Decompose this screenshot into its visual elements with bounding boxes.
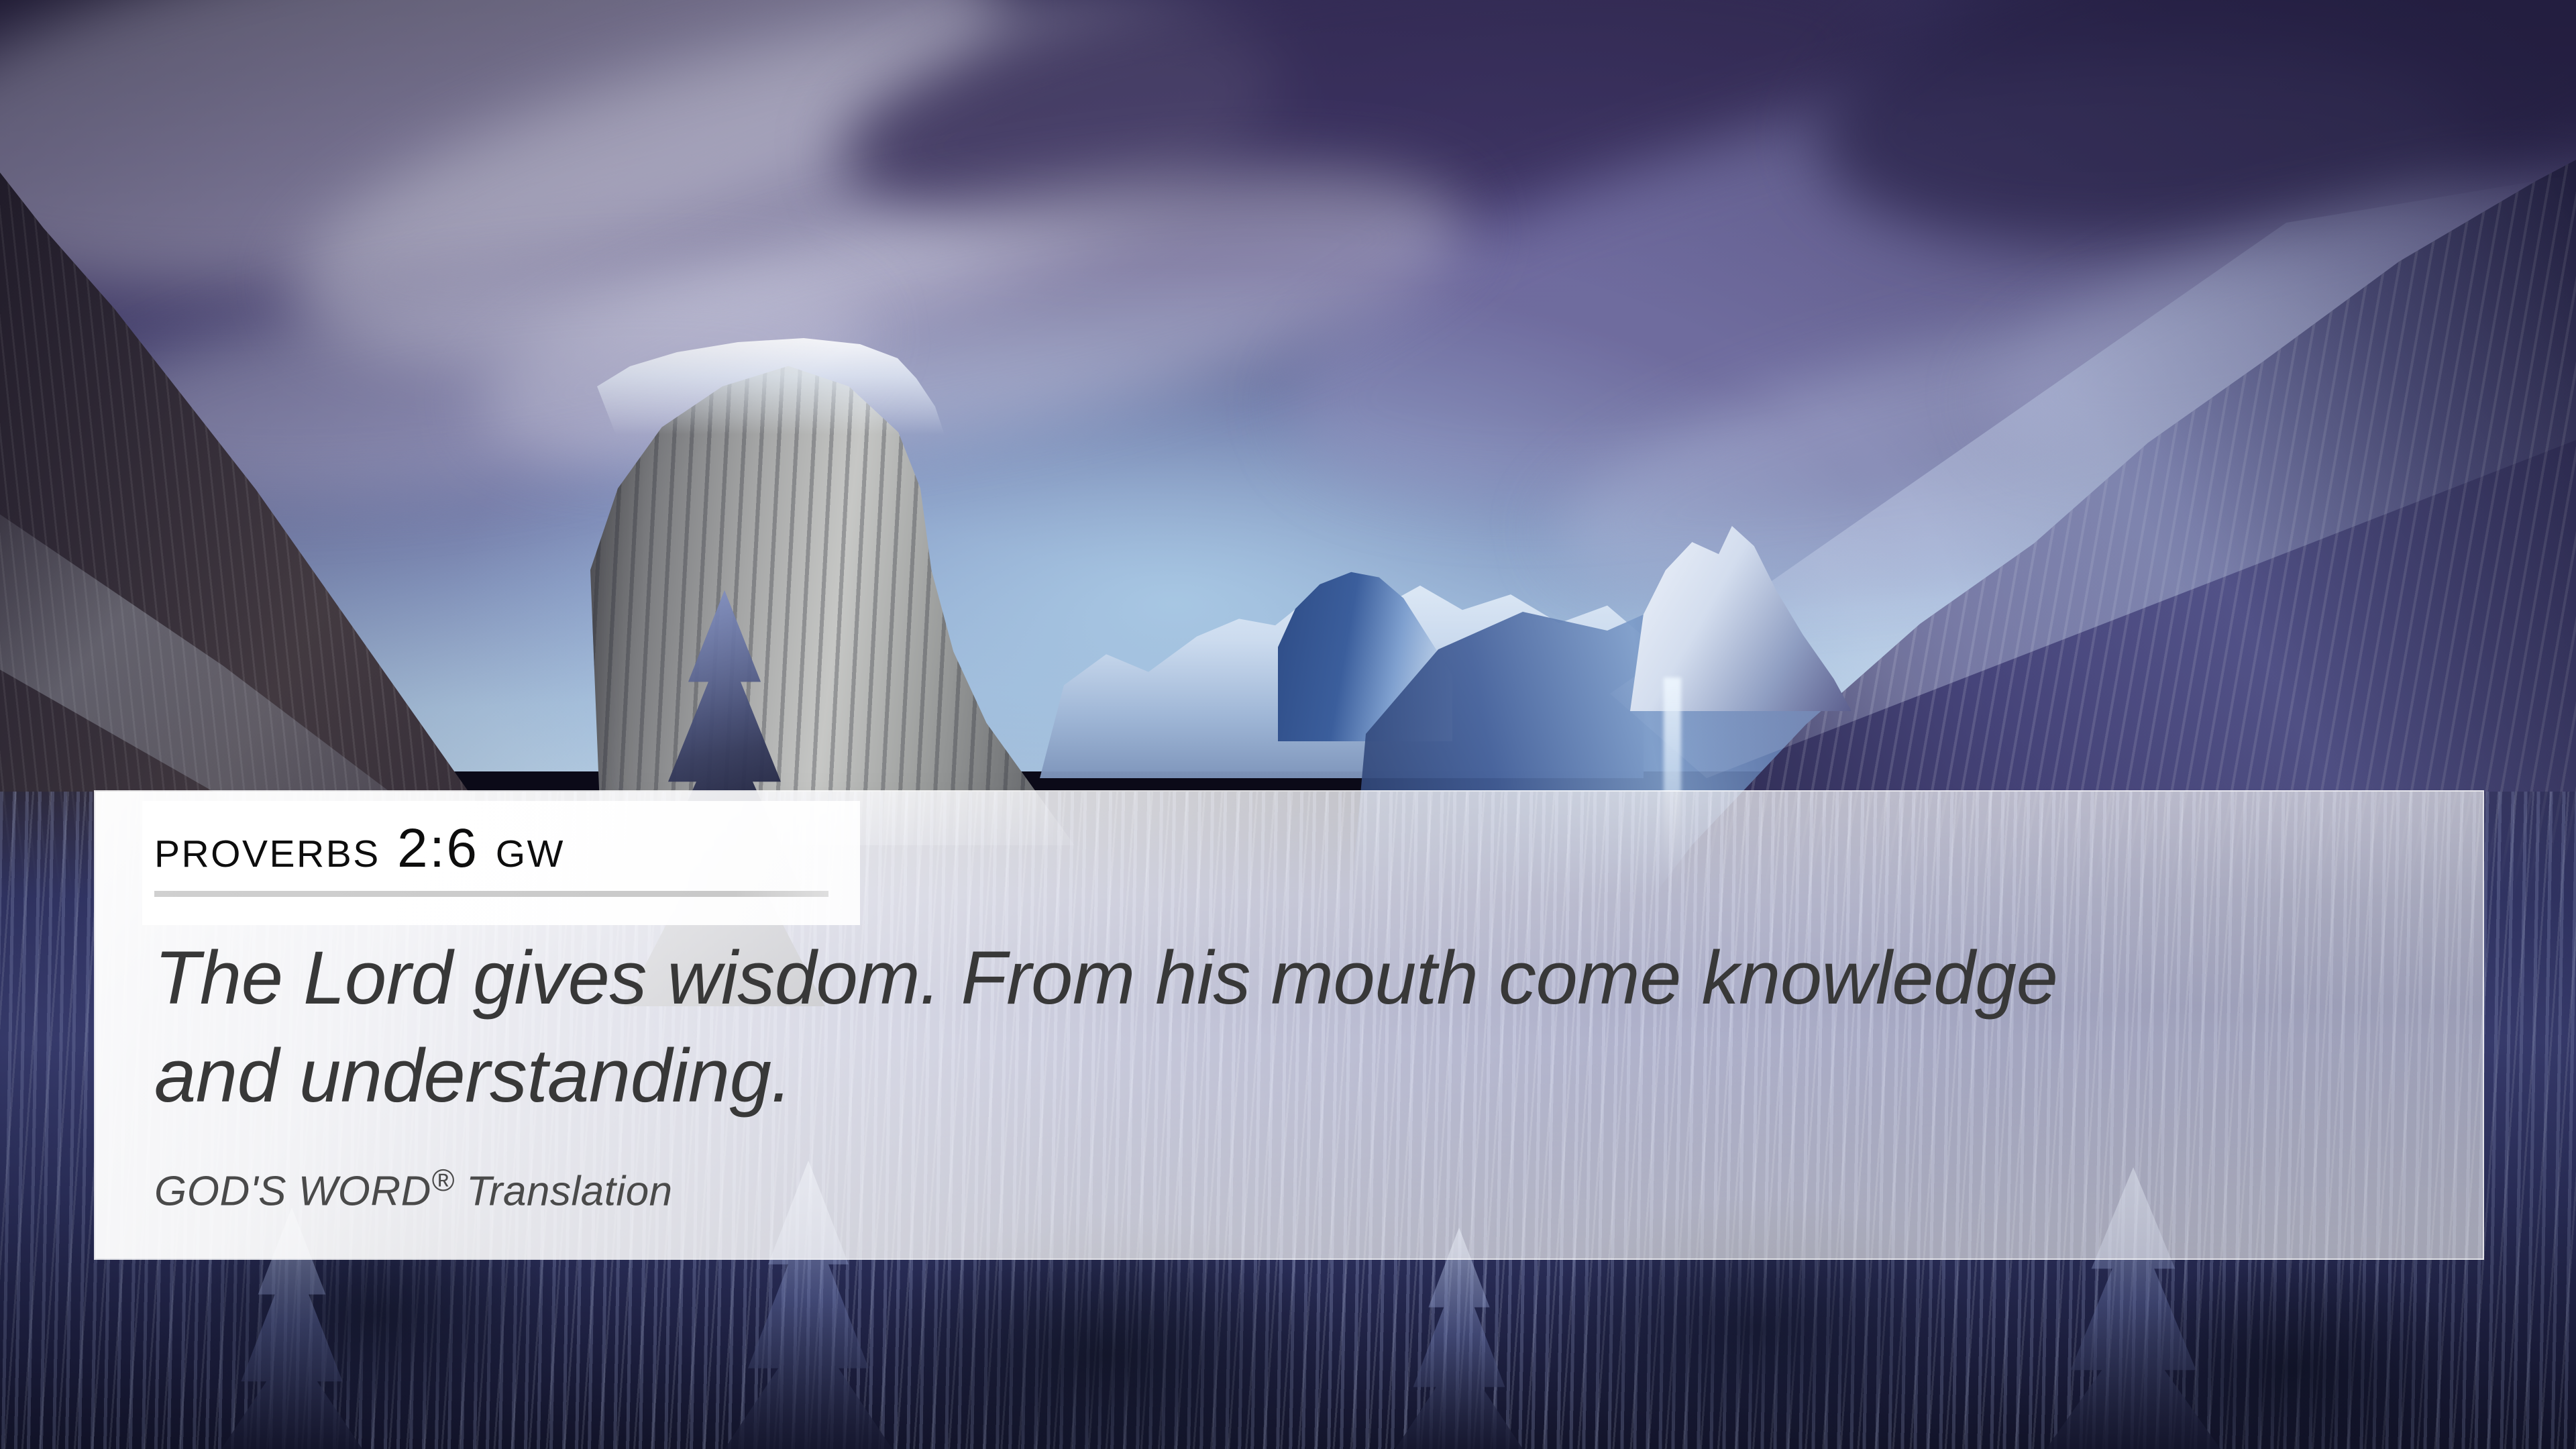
verse-content: Proverbs 2:6 GW The Lord gives wisdom. F… [95,792,2483,1258]
verse-reference: Proverbs 2:6 GW [154,821,828,876]
verse-panel: Proverbs 2:6 GW The Lord gives wisdom. F… [94,790,2484,1260]
translation-suffix: Translation [454,1169,672,1215]
reference-underline [154,891,828,897]
verse-text: The Lord gives wisdom. From his mouth co… [154,929,2153,1124]
verse-reference-block: Proverbs 2:6 GW [154,821,828,897]
registered-trademark-icon: ® [431,1163,454,1197]
verse-wallpaper: Proverbs 2:6 GW The Lord gives wisdom. F… [0,0,2576,1449]
translation-name: GOD'S WORD [154,1169,431,1215]
translation-credit: GOD'S WORD® Translation [154,1162,2483,1216]
